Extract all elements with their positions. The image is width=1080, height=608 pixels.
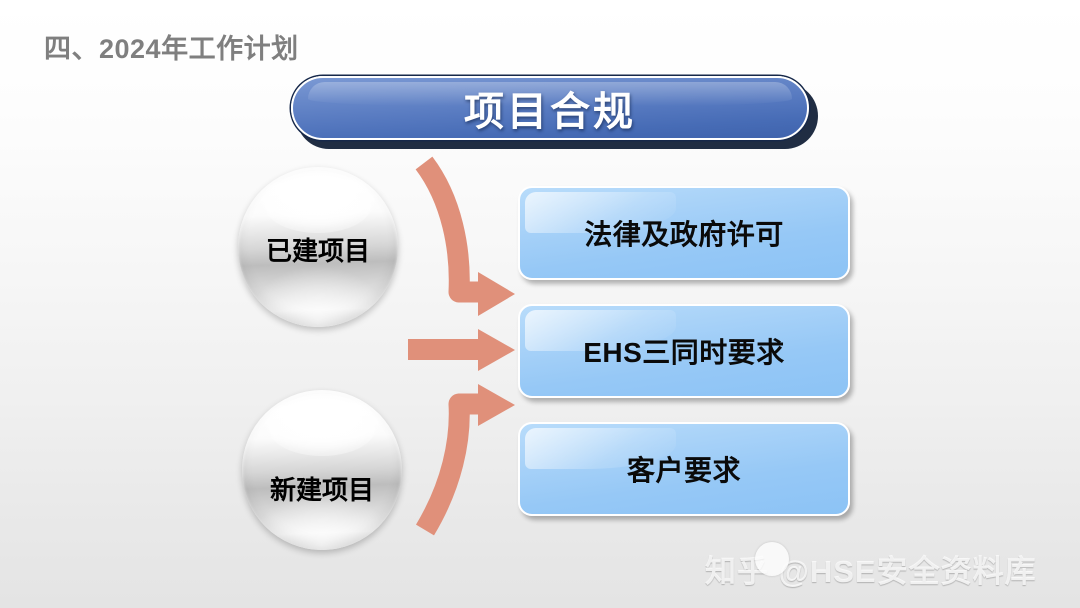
header-pill-label: 项目合规 <box>464 79 636 137</box>
watermark: 知乎 @HSE安全资料库 <box>705 546 1037 591</box>
page-title: 四、2024年工作计划 <box>44 27 299 66</box>
box-legal-permit-label: 法律及政府许可 <box>584 213 784 253</box>
arrow-new-to-ehs-icon <box>425 384 515 530</box>
box-legal-permit[interactable]: 法律及政府许可 <box>518 186 850 280</box>
slide-canvas: 四、2024年工作计划 项目合规 已建项目 新建项目 法律及政府许可 EHS三同… <box>0 0 1080 608</box>
sphere-built-project-label: 已建项目 <box>266 231 370 268</box>
arrow-built-to-ehs-icon <box>408 329 515 371</box>
box-customer-requirement[interactable]: 客户要求 <box>518 422 850 516</box>
box-ehs-three-simultaneous-label: EHS三同时要求 <box>583 331 785 371</box>
header-pill[interactable]: 项目合规 <box>291 76 809 140</box>
sphere-new-project-label: 新建项目 <box>270 470 374 507</box>
header-pill-container: 项目合规 <box>291 76 813 146</box>
sphere-new-project[interactable]: 新建项目 <box>242 390 402 550</box>
zhihu-logo-icon <box>755 542 789 576</box>
box-customer-requirement-label: 客户要求 <box>627 449 741 489</box>
watermark-text: 知乎 @HSE安全资料库 <box>705 546 1037 591</box>
box-ehs-three-simultaneous[interactable]: EHS三同时要求 <box>518 304 850 398</box>
sphere-built-project[interactable]: 已建项目 <box>238 167 398 327</box>
arrow-built-to-legal-icon <box>424 163 515 316</box>
